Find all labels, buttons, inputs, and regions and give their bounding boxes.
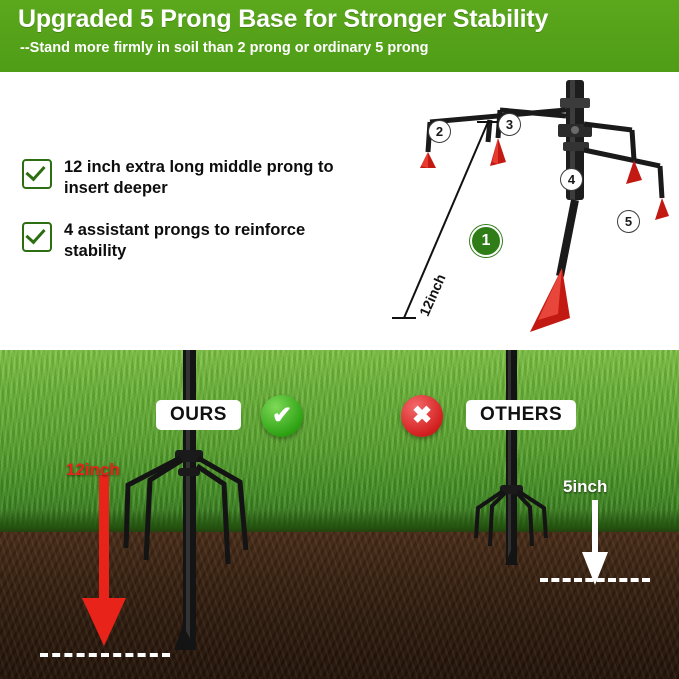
others-depth-label: 5inch [563,477,607,497]
feature-list: 12 inch extra long middle prong to inser… [22,157,372,284]
list-item: 12 inch extra long middle prong to inser… [22,157,372,198]
ours-depth-marker [40,653,170,657]
check-icon [22,222,52,252]
page-subtitle: --Stand more firmly in soil than 2 prong… [20,40,428,56]
features-panel: 12 inch extra long middle prong to inser… [0,72,679,350]
prong-number-1: 1 [470,225,502,257]
ours-label: OURS [156,400,241,430]
others-depth-marker [540,578,650,582]
feature-text: 4 assistant prongs to reinforce stabilit… [64,220,372,261]
comparison-photo: OURS OTHERS ✔ ✖ 12inch 5inch [0,350,679,679]
cross-glyph: ✖ [412,404,432,428]
prong-number-3: 3 [498,113,521,136]
prong-number-2: 2 [428,120,451,143]
product-infographic: Upgraded 5 Prong Base for Stronger Stabi… [0,0,679,679]
check-glyph: ✔ [272,404,292,428]
list-item: 4 assistant prongs to reinforce stabilit… [22,220,372,261]
prong-number-4: 4 [560,168,583,191]
stakes-illustration [0,350,679,679]
others-label: OTHERS [466,400,576,430]
cross-circle-icon: ✖ [401,395,443,437]
header: Upgraded 5 Prong Base for Stronger Stabi… [0,0,679,72]
prong-number-5: 5 [617,210,640,233]
check-circle-icon: ✔ [261,395,303,437]
feature-text: 12 inch extra long middle prong to inser… [64,157,372,198]
check-icon [22,159,52,189]
product-diagram: 12inch 1 2 3 4 5 [370,80,679,350]
ours-depth-label: 12inch [66,460,120,480]
page-title: Upgraded 5 Prong Base for Stronger Stabi… [18,5,548,34]
